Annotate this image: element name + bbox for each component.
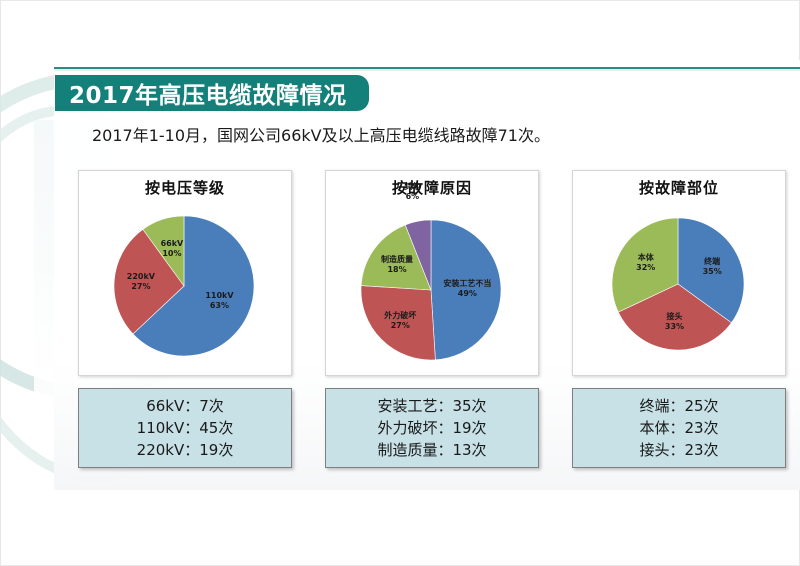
summary-line: 本体：23次 [573, 418, 785, 440]
pie-slice-安装工艺不当[interactable] [431, 220, 501, 360]
subtitle-text: 2017年1-10月，国网公司66kV及以上高压电缆线路故障71次。 [92, 122, 550, 146]
summary-line: 终端：25次 [573, 396, 785, 418]
chart-title-fault-location: 按故障部位 [573, 171, 785, 198]
summary-line: 220kV：19次 [79, 440, 291, 462]
chart-column-voltage-level: 按电压等级 110kV63%220kV27%66kV10% 66kV：7次 11… [78, 170, 292, 376]
chart-column-fault-cause: 按故障原因 安装工艺不当49%外力破坏27%制造质量18%其他6% 安装工艺：3… [325, 170, 539, 376]
chart-title-fault-cause: 按故障原因 [326, 171, 538, 198]
page-title: 2017年高压电缆故障情况 [55, 75, 369, 111]
pie-area-voltage-level: 110kV63%220kV27%66kV10% [79, 198, 292, 370]
summary-box-fault-location: 终端：25次 本体：23次 接头：23次 [572, 388, 786, 468]
chart-title-voltage-level: 按电压等级 [79, 171, 291, 198]
pie-svg-fault-cause [326, 198, 539, 370]
summary-box-voltage-level: 66kV：7次 110kV：45次 220kV：19次 [78, 388, 292, 468]
summary-line: 制造质量：13次 [326, 440, 538, 462]
header-rule-shadow [54, 69, 800, 71]
summary-box-fault-cause: 安装工艺：35次 外力破坏：19次 制造质量：13次 [325, 388, 539, 468]
summary-line: 接头：23次 [573, 440, 785, 462]
summary-line: 110kV：45次 [79, 418, 291, 440]
pie-chart-card-fault-location[interactable]: 按故障部位 终端35%接头33%本体32% [572, 170, 786, 376]
pie-chart-card-fault-cause[interactable]: 按故障原因 安装工艺不当49%外力破坏27%制造质量18%其他6% [325, 170, 539, 376]
charts-row: 按电压等级 110kV63%220kV27%66kV10% 66kV：7次 11… [78, 170, 738, 470]
pie-chart-card-voltage-level[interactable]: 按电压等级 110kV63%220kV27%66kV10% [78, 170, 292, 376]
pie-area-fault-cause: 安装工艺不当49%外力破坏27%制造质量18%其他6% [326, 198, 539, 370]
summary-line: 安装工艺：35次 [326, 396, 538, 418]
summary-line: 66kV：7次 [79, 396, 291, 418]
slide-canvas: 2017年高压电缆故障情况 2017年1-10月，国网公司66kV及以上高压电缆… [0, 0, 800, 566]
page-border-top [0, 0, 800, 1]
pie-svg-voltage-level [79, 198, 292, 370]
chart-column-fault-location: 按故障部位 终端35%接头33%本体32% 终端：25次 本体：23次 接头：2… [572, 170, 786, 376]
pie-svg-fault-location [573, 198, 786, 370]
pie-area-fault-location: 终端35%接头33%本体32% [573, 198, 786, 370]
summary-line: 外力破坏：19次 [326, 418, 538, 440]
pie-slice-外力破坏[interactable] [361, 286, 435, 360]
